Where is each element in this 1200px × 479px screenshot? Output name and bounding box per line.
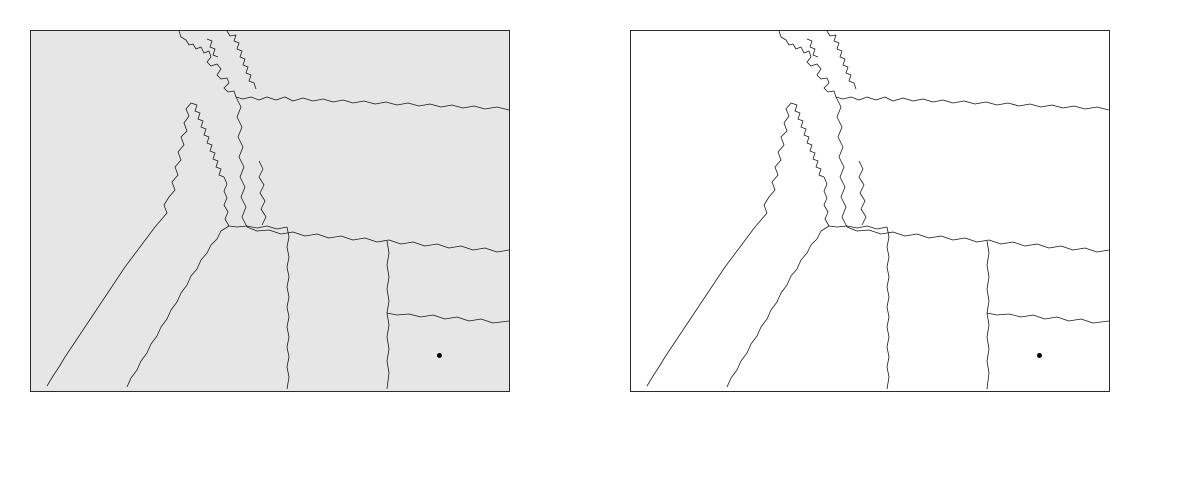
bias-observation-points [631, 31, 1109, 391]
model-observation-points [31, 31, 509, 391]
aqs-legend-bias [1037, 353, 1046, 358]
aqs-dot-icon [437, 353, 442, 358]
aqs-dot-icon [1037, 353, 1042, 358]
plot-area-model [30, 30, 510, 392]
panel-model [0, 0, 600, 479]
figure-canvas [0, 0, 1200, 479]
aqs-legend-model [437, 353, 446, 358]
plot-area-bias [630, 30, 1110, 392]
colorbar-gradient-model [534, 48, 548, 378]
panel-bias [600, 0, 1200, 479]
colorbar-gradient-bias [1134, 48, 1148, 378]
